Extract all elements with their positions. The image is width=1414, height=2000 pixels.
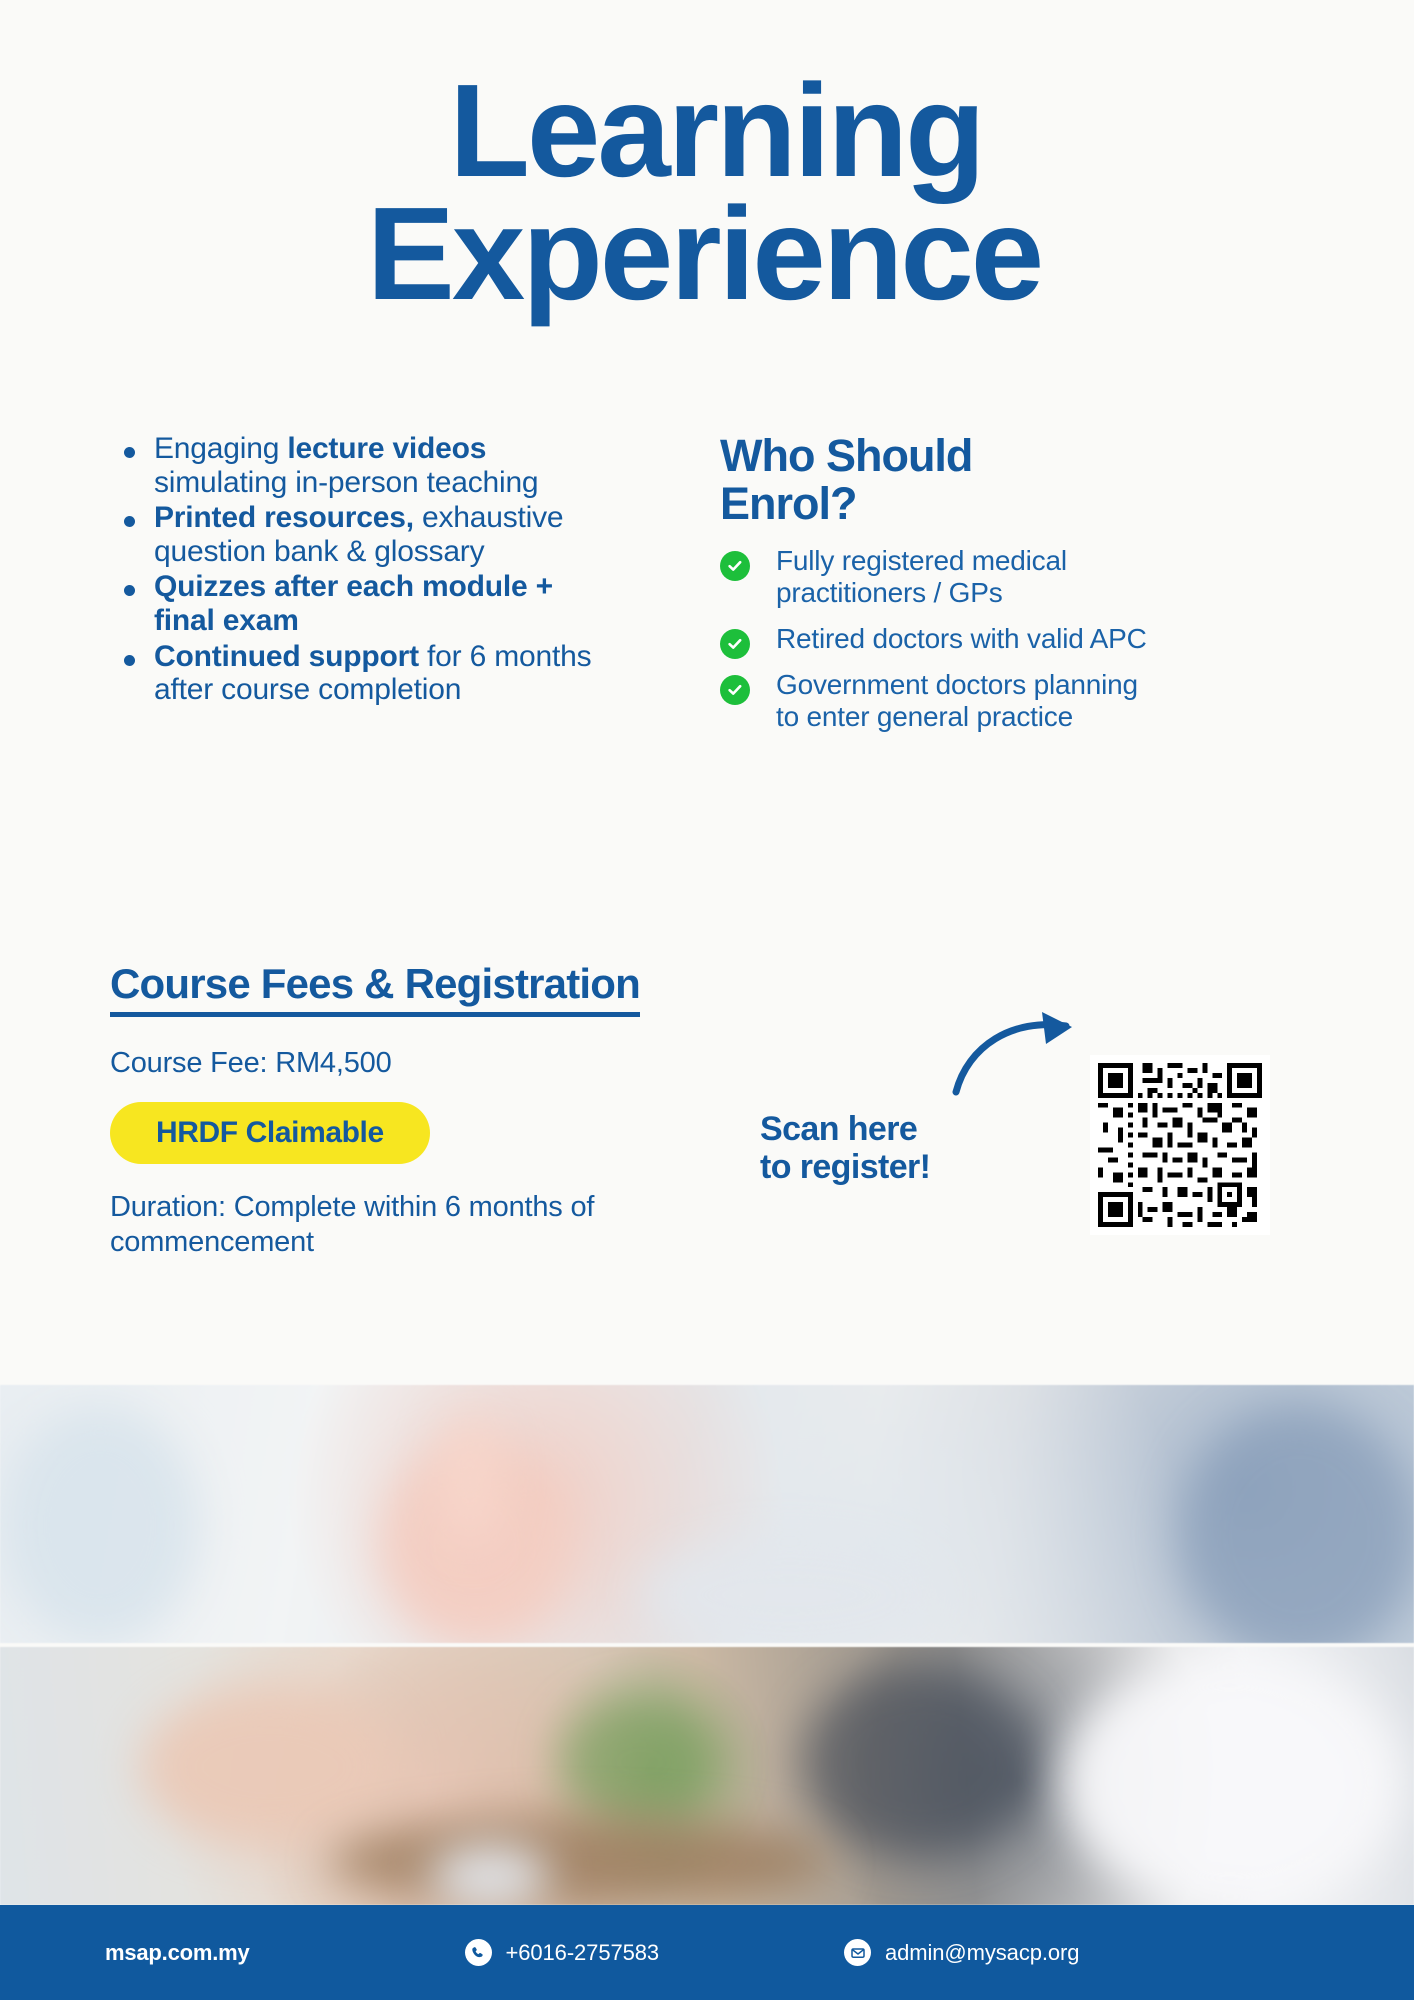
fees-section-title: Course Fees & Registration: [110, 960, 640, 1017]
enrol-item-label: Fully registered medical practitioners /…: [776, 545, 1067, 608]
who-should-enrol-title: Who Should Enrol?: [720, 432, 1160, 527]
list-item: Fully registered medical practitioners /…: [720, 545, 1160, 609]
footer-bar: msap.com.my +6016-2757583 admin@mysacp.o…: [0, 1905, 1414, 2000]
feature-strong: Printed resources,: [154, 501, 414, 534]
phone-icon: [465, 1939, 492, 1966]
footer-phone[interactable]: +6016-2757583: [465, 1939, 659, 1966]
list-item: Government doctors planning to enter gen…: [720, 669, 1160, 733]
hero-title-line-2: Experience: [0, 193, 1414, 316]
feature-strong: Continued support: [154, 640, 419, 673]
list-item: Engaging lecture videos simulating in-pe…: [110, 432, 600, 499]
feature-pre: Engaging: [154, 432, 287, 465]
list-item: Quizzes after each module + final exam: [110, 570, 600, 637]
check-circle-icon: [720, 551, 750, 581]
feature-strong: Quizzes after each module + final exam: [154, 570, 553, 637]
envelope-icon: [844, 1939, 871, 1966]
features-column: Engaging lecture videos simulating in-pe…: [0, 432, 600, 747]
curved-arrow-icon: [950, 1010, 1090, 1105]
enrol-list: Fully registered medical practitioners /…: [720, 545, 1160, 733]
consultation-photo-top: [0, 1385, 1414, 1643]
hero-title: Learning Experience: [0, 70, 1414, 316]
enrol-item-label: Government doctors planning to enter gen…: [776, 669, 1138, 732]
enrol-item-label: Retired doctors with valid APC: [776, 623, 1147, 654]
features-list: Engaging lecture videos simulating in-pe…: [110, 432, 600, 707]
scan-line-2: to register!: [760, 1148, 930, 1186]
enrol-column: Who Should Enrol? Fully registered medic…: [600, 432, 1160, 747]
course-duration: Duration: Complete within 6 months of co…: [110, 1190, 610, 1260]
footer-phone-label: +6016-2757583: [506, 1940, 659, 1966]
content-columns: Engaging lecture videos simulating in-pe…: [0, 432, 1414, 747]
feature-strong: lecture videos: [287, 432, 486, 465]
footer-email-label: admin@mysacp.org: [885, 1940, 1079, 1966]
hrdf-claimable-badge: HRDF Claimable: [110, 1102, 430, 1164]
photo-strip: [0, 1385, 1414, 1905]
check-circle-icon: [720, 675, 750, 705]
qr-code[interactable]: [1090, 1055, 1270, 1235]
course-fee-value: Course Fee: RM4,500: [110, 1047, 810, 1080]
hero-title-line-1: Learning: [18, 70, 1414, 193]
fees-section: Course Fees & Registration Course Fee: R…: [110, 960, 810, 1260]
poster-page: Learning Experience Engaging lecture vid…: [0, 0, 1414, 2000]
footer-website[interactable]: msap.com.my: [105, 1940, 250, 1966]
who-title-line-1: Who Should: [720, 432, 1160, 480]
scan-instruction-text: Scan here to register!: [760, 1110, 930, 1186]
list-item: Printed resources, exhaustive question b…: [110, 501, 600, 568]
scan-to-register: Scan here to register!: [740, 1010, 1340, 1260]
consultation-photo-bottom: [0, 1647, 1414, 1905]
list-item: Retired doctors with valid APC: [720, 623, 1160, 655]
footer-email[interactable]: admin@mysacp.org: [844, 1939, 1079, 1966]
feature-post: simulating in-person teaching: [154, 466, 538, 499]
who-title-line-2: Enrol?: [720, 480, 1160, 528]
list-item: Continued support for 6 months after cou…: [110, 640, 600, 707]
check-circle-icon: [720, 629, 750, 659]
scan-line-1: Scan here: [760, 1110, 930, 1148]
